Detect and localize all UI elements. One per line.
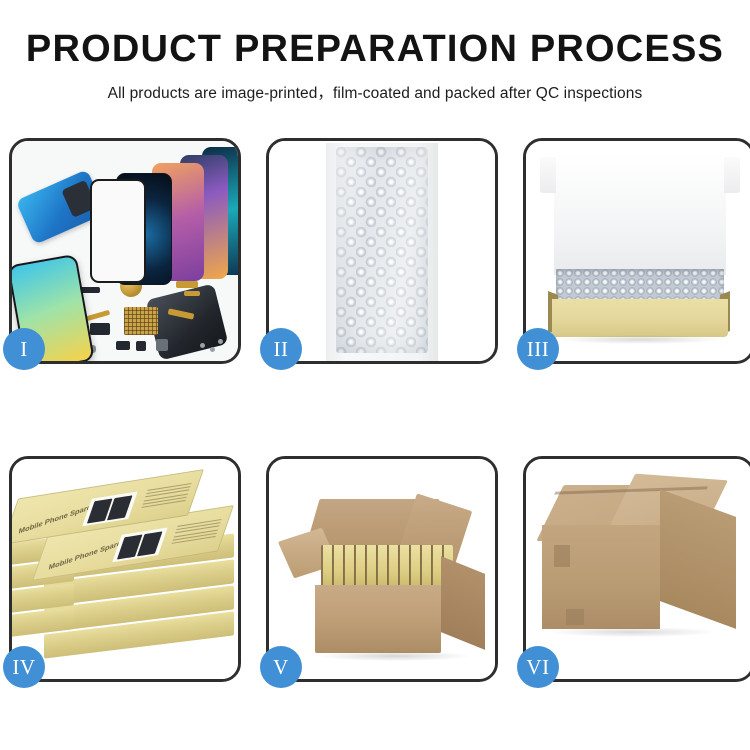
part-flex-gold	[176, 281, 198, 288]
box-bubble-wrap-contents	[556, 269, 724, 301]
box-white-lid	[554, 153, 726, 275]
carton-front-panel	[315, 585, 441, 653]
step-badge-3: III	[517, 328, 559, 370]
step-card-2: II	[266, 138, 498, 364]
sealed-carton-tape-lower	[566, 609, 584, 625]
part-screw-2	[210, 347, 215, 352]
part-module-small	[90, 323, 110, 335]
step-card-1: I	[9, 138, 241, 364]
process-step-grid: I II III	[9, 138, 741, 678]
step-badge-1: I	[3, 328, 45, 370]
part-chip-array	[124, 307, 158, 335]
stacked-boxes-image: Mobile Phone Spare Parts Mobile Phone Sp…	[12, 459, 238, 679]
step-card-3: III	[523, 138, 750, 364]
bubble-wrap-image	[269, 141, 495, 361]
bubble-wrap-sheen	[336, 147, 428, 353]
inner-box-image	[526, 141, 750, 361]
part-screw-1	[200, 343, 205, 348]
part-camera	[116, 341, 130, 350]
box-textlines-upper	[141, 483, 192, 510]
page-subtitle: All products are image-printed，film-coat…	[0, 81, 750, 103]
box-textlines-middle	[171, 519, 222, 546]
carton-right-side	[441, 556, 485, 650]
part-ribbon-cable-2	[168, 308, 195, 319]
page-header: PRODUCT PREPARATION PROCESS All products…	[0, 0, 750, 103]
step-card-6: VI	[523, 456, 750, 682]
sealed-carton-tape-upper	[554, 545, 570, 567]
sealed-carton-shadow	[552, 627, 712, 637]
part-speaker	[136, 341, 146, 351]
carton-shadow	[319, 651, 469, 661]
product-preparation-page: PRODUCT PREPARATION PROCESS All products…	[0, 0, 750, 750]
box-shadow	[560, 335, 720, 344]
step-badge-2: II	[260, 328, 302, 370]
box-stack: Mobile Phone Spare Parts Mobile Phone Sp…	[14, 473, 238, 673]
step-card-5: V	[266, 456, 498, 682]
sealed-carton-image	[526, 459, 750, 679]
step-badge-6: VI	[517, 646, 559, 688]
page-title: PRODUCT PREPARATION PROCESS	[0, 30, 750, 70]
step-badge-5: V	[260, 646, 302, 688]
sealed-carton-right-side	[660, 489, 736, 629]
step-card-4: Mobile Phone Spare Parts Mobile Phone Sp…	[9, 456, 241, 682]
open-carton-image	[269, 459, 495, 679]
sealed-carton-front	[542, 525, 660, 629]
step-badge-4: IV	[3, 646, 45, 688]
part-ribbon-cable	[86, 310, 110, 321]
phone-parts-image	[12, 141, 238, 361]
phone-white-frame	[90, 179, 146, 283]
part-vibrator	[156, 339, 168, 351]
box-front-panel	[552, 299, 728, 337]
part-screw-3	[218, 339, 223, 344]
part-flex-gold-2	[184, 291, 200, 296]
